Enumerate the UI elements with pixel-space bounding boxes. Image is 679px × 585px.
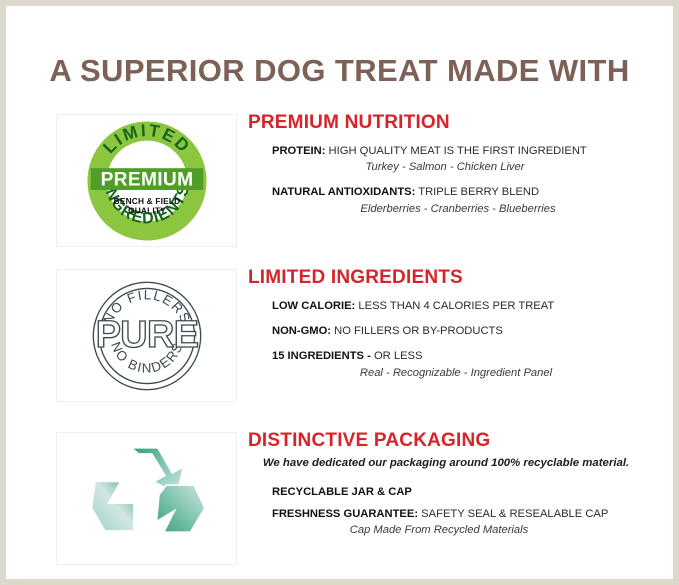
page-title: A SUPERIOR DOG TREAT MADE WITH [6,53,673,89]
line-text: LESS THAN 4 CALORIES PER TREAT [355,300,554,312]
line-label: FRESHNESS GUARANTEE: [272,508,418,520]
recycle-symbol-icon [86,443,208,555]
sub-line: Turkey - Salmon - Chicken Liver [272,159,646,175]
section-heading-premium-nutrition: PREMIUM NUTRITION [246,106,646,134]
limited-ingredients-body: LOW CALORIE: LESS THAN 4 CALORIES PER TR… [246,289,646,381]
sub-line: Cap Made From Recycled Materials [272,522,646,538]
limited-ingredients-content: LIMITED INGREDIENTS LOW CALORIE: LESS TH… [246,261,646,411]
infographic-root: A SUPERIOR DOG TREAT MADE WITH LIMITED I… [0,0,679,585]
section-limited-ingredients: NO FILLERS NO BINDERS PURE LIMITED INGRE… [6,261,673,411]
list-item: FRESHNESS GUARANTEE: SAFETY SEAL & RESEA… [272,506,646,522]
pure-center-text: PURE [95,313,198,355]
recycle-arrow-right [156,485,204,532]
list-item: LOW CALORIE: LESS THAN 4 CALORIES PER TR… [272,298,646,314]
line-label: NATURAL ANTIOXIDANTS: [272,186,415,198]
section-premium-nutrition: LIMITED INGREDIENTS PREMIUM BENCH & FIEL… [6,106,673,256]
section-distinctive-packaging: DISTINCTIVE PACKAGING We have dedicated … [6,424,673,574]
sub-line: Real - Recognizable - Ingredient Panel [272,365,646,381]
line-label: PROTEIN: [272,145,325,157]
line-text: HIGH QUALITY MEAT IS THE FIRST INGREDIEN… [325,145,586,157]
section-heading-distinctive-packaging: DISTINCTIVE PACKAGING [246,424,646,452]
premium-sub-text-1: BENCH & FIELD [113,196,180,206]
distinctive-packaging-body: RECYCLABLE JAR & CAP FRESHNESS GUARANTEE… [246,469,646,539]
list-item: 15 INGREDIENTS - OR LESS [272,348,646,364]
line-text: TRIPLE BERRY BLEND [415,186,539,198]
line-text: NO FILLERS OR BY-PRODUCTS [331,325,503,337]
distinctive-packaging-content: DISTINCTIVE PACKAGING We have dedicated … [246,424,646,574]
line-label: 15 INGREDIENTS - [272,350,371,362]
premium-badge-icon: LIMITED INGREDIENTS PREMIUM BENCH & FIEL… [83,117,211,245]
packaging-tagline: We have dedicated our packaging around 1… [246,452,646,469]
premium-banner-text: PREMIUM [100,169,193,190]
section-heading-limited-ingredients: LIMITED INGREDIENTS [246,261,646,289]
line-label: LOW CALORIE: [272,300,355,312]
sub-line: Elderberries - Cranberries - Blueberries [272,201,646,217]
premium-badge-box: LIMITED INGREDIENTS PREMIUM BENCH & FIEL… [56,114,237,247]
premium-nutrition-body: PROTEIN: HIGH QUALITY MEAT IS THE FIRST … [246,134,646,217]
line-label: RECYCLABLE JAR & CAP [272,486,412,498]
recycle-arrow-left [91,481,133,530]
list-item: PROTEIN: HIGH QUALITY MEAT IS THE FIRST … [272,143,646,159]
list-item: RECYCLABLE JAR & CAP [272,484,646,500]
infographic-canvas: A SUPERIOR DOG TREAT MADE WITH LIMITED I… [6,6,673,579]
line-text: OR LESS [371,350,423,362]
list-item: NATURAL ANTIOXIDANTS: TRIPLE BERRY BLEND [272,184,646,200]
pure-badge-icon: NO FILLERS NO BINDERS PURE [86,275,208,397]
pure-badge-box: NO FILLERS NO BINDERS PURE [56,269,237,402]
premium-sub-text-2: QUALITY [128,205,166,215]
line-label: NON-GMO: [272,325,331,337]
line-text: SAFETY SEAL & RESEALABLE CAP [418,508,608,520]
premium-nutrition-content: PREMIUM NUTRITION PROTEIN: HIGH QUALITY … [246,106,646,256]
recycle-badge-box [56,432,237,565]
list-item: NON-GMO: NO FILLERS OR BY-PRODUCTS [272,323,646,339]
